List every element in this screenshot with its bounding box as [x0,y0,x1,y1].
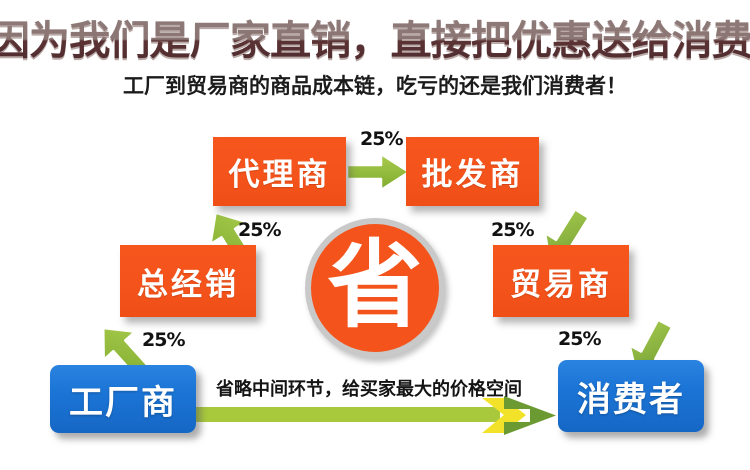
pct-label-distributor-to-agent: 25% [238,219,280,241]
node-wholesaler-label: 批发商 [422,149,524,194]
node-agent[interactable]: 代理商 [213,137,346,206]
arrow-agent-to-wholesaler-icon [345,150,413,194]
node-factory-label: 工厂商 [69,375,177,424]
node-wholesaler[interactable]: 批发商 [406,137,539,206]
node-distributor-label: 总经销 [137,259,239,304]
node-agent-label: 代理商 [229,149,331,194]
page-title: 因为我们是厂家直销，直接把优惠送给消费者 [0,18,750,64]
node-factory[interactable]: 工厂商 [50,365,196,433]
savings-badge-char: 省 [327,239,422,334]
pct-label-factory-to-distributor: 25% [142,329,184,351]
node-trader[interactable]: 贸易商 [493,245,629,317]
arrow-savings-bar-icon [182,396,572,436]
page-subtitle: 工厂到贸易商的商品成本链，吃亏的还是我们消费者！ [0,70,750,100]
node-trader-label: 贸易商 [510,259,612,304]
node-consumer-label: 消费者 [577,372,685,421]
node-consumer[interactable]: 消费者 [558,360,704,432]
savings-badge: 省 [305,218,445,358]
node-distributor[interactable]: 总经销 [120,245,256,317]
pct-label-agent-to-wholesaler: 25% [360,128,402,150]
pct-label-wholesaler-to-trader: 25% [491,219,533,241]
savings-badge-core: 省 [311,224,439,352]
promo-banner: 因为我们是厂家直销，直接把优惠送给消费者 因为我们是厂家直销，直接把优惠送给消费… [0,0,750,470]
pct-label-trader-to-consumer: 25% [558,328,600,350]
footer-caption: 省略中间环节，给买家最大的价格空间 [216,375,522,401]
